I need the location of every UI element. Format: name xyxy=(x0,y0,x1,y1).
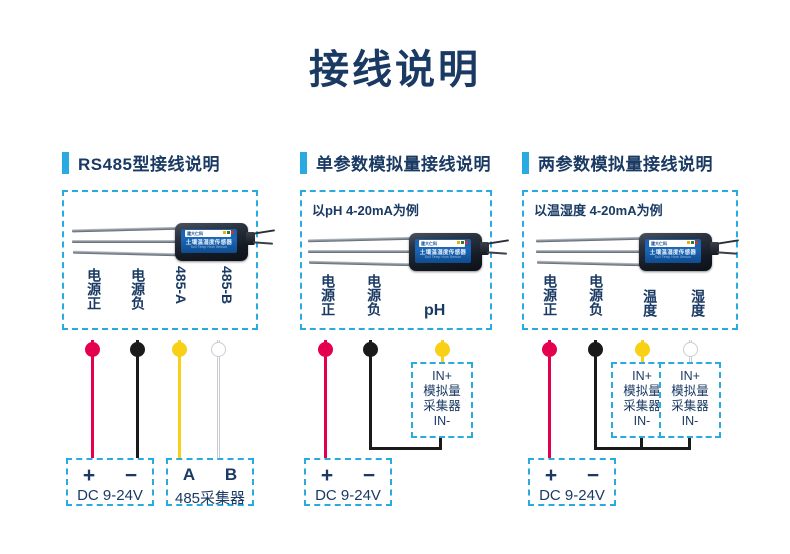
collector-line-2: 采集器 xyxy=(661,399,719,414)
ground-link-vertical-2 xyxy=(688,437,691,449)
wire-power-positive xyxy=(324,340,327,464)
wire-485b xyxy=(217,340,220,464)
soil-sensor-device-rs485: 建大仁科 土壤温湿度传感器 Soil Temp Hum Sensor xyxy=(70,220,254,270)
analog-collector-box-1[interactable]: IN+ 模拟量 采集器 IN- xyxy=(411,362,473,438)
wire-dot-power-positive xyxy=(318,342,333,357)
output-cable xyxy=(253,229,275,234)
label-dots-icon xyxy=(687,241,698,244)
section-header-single-analog: 单参数模拟量接线说明 xyxy=(300,150,491,175)
terminal-box-485-collector[interactable]: A B 485采集器 xyxy=(166,458,254,506)
accent-bar-icon xyxy=(522,152,529,174)
terminal-symbol-positive: + xyxy=(83,465,95,486)
output-cable xyxy=(717,251,737,254)
terminal-symbol-a: A xyxy=(183,466,195,483)
terminal-label-485a: 485-A xyxy=(173,266,188,304)
terminal-label-power-negative: 电源负 xyxy=(366,274,381,316)
collector-in-plus-label: IN+ xyxy=(413,369,471,384)
collector-in-minus-label: IN- xyxy=(413,414,471,429)
terminal-symbol-negative: − xyxy=(125,465,137,486)
collector-line-2: 采集器 xyxy=(413,399,471,414)
probe-prong-icon xyxy=(309,261,417,267)
wire-power-positive xyxy=(91,340,94,464)
device-model-sub: Soil Temp Hum Sensor xyxy=(415,255,471,259)
sensor-label: 建大仁科 土壤温湿度传感器 Soil Temp Hum Sensor xyxy=(415,239,471,263)
ground-link-vertical-1 xyxy=(640,437,643,449)
probe-prong-icon xyxy=(72,240,184,243)
terminal-symbol-negative: − xyxy=(587,465,599,486)
sensor-housing: 建大仁科 土壤温湿度传感器 Soil Temp Hum Sensor xyxy=(409,233,482,271)
probe-prong-icon xyxy=(72,227,182,233)
wire-dot-humidity-signal xyxy=(683,342,698,357)
section-title-rs485: RS485型接线说明 xyxy=(78,150,220,175)
wire-dot-485a xyxy=(172,342,187,357)
accent-bar-icon xyxy=(300,152,307,174)
wire-power-negative xyxy=(136,340,139,464)
output-cable xyxy=(717,239,739,244)
probe-prong-icon xyxy=(536,237,646,243)
collector-line-1: 模拟量 xyxy=(661,384,719,399)
wire-dot-power-positive xyxy=(542,342,557,357)
section-title-single-analog: 单参数模拟量接线说明 xyxy=(316,150,491,175)
terminal-box-dc-supply-single[interactable]: + − DC 9-24V xyxy=(304,458,392,506)
output-cable xyxy=(487,251,507,254)
terminal-label-humidity: 湿度 xyxy=(690,289,705,317)
brand-text: 建大仁科 xyxy=(421,241,437,247)
soil-sensor-device-single: 建大仁科 土壤温湿度传感器 Soil Temp Hum Sensor xyxy=(306,230,490,280)
terminal-label-power-negative: 电源负 xyxy=(588,274,603,316)
wire-dot-power-negative xyxy=(130,342,145,357)
analog-collector-box-2[interactable]: IN+ 模拟量 采集器 IN- xyxy=(659,362,721,438)
device-panel-rs485: 建大仁科 土壤温湿度传感器 Soil Temp Hum Sensor 电源正 电… xyxy=(62,190,258,330)
terminal-symbol-positive: + xyxy=(545,465,557,486)
terminal-label-power-negative: 电源负 xyxy=(130,268,145,310)
brand-text: 建大仁科 xyxy=(187,231,203,237)
label-dots-icon xyxy=(223,231,234,234)
sensor-label: 建大仁科 土壤温湿度传感器 Soil Temp Hum Sensor xyxy=(645,239,701,263)
probe-prong-icon xyxy=(308,250,418,253)
wire-dot-power-negative xyxy=(363,342,378,357)
terminal-box-caption-dc: DC 9-24V xyxy=(306,487,390,504)
collector-in-plus-label: IN+ xyxy=(661,369,719,384)
terminal-symbol-negative: − xyxy=(363,465,375,486)
terminal-box-dc-supply-rs485[interactable]: + − DC 9-24V xyxy=(66,458,154,506)
collector-line-1: 模拟量 xyxy=(413,384,471,399)
terminal-label-power-positive: 电源正 xyxy=(86,268,101,310)
sensor-label: 建大仁科 土壤温湿度传感器 Soil Temp Hum Sensor xyxy=(181,229,237,253)
panel-caption-single-analog: 以pH 4-20mA为例 xyxy=(312,200,419,219)
panel-caption-dual-analog: 以温湿度 4-20mA为例 xyxy=(534,200,663,219)
output-cable xyxy=(253,241,273,244)
terminal-symbol-b: B xyxy=(225,466,237,483)
collector-in-minus-label: IN- xyxy=(661,414,719,429)
terminal-label-temperature: 温度 xyxy=(642,289,657,317)
device-model-sub: Soil Temp Hum Sensor xyxy=(181,245,237,249)
terminal-label-ph: pH xyxy=(424,302,445,319)
section-title-dual-analog: 两参数模拟量接线说明 xyxy=(538,150,713,175)
terminal-box-caption-dc: DC 9-24V xyxy=(68,487,152,504)
terminal-symbol-positive: + xyxy=(321,465,333,486)
terminal-box-caption-485: 485采集器 xyxy=(168,487,252,508)
page-title: 接线说明 xyxy=(0,48,790,92)
ground-link-vertical xyxy=(439,437,442,449)
brand-text: 建大仁科 xyxy=(651,241,667,247)
wiring-instructions-page: 接线说明 RS485型接线说明 建大仁科 土壤温湿度传感器 Soil Temp … xyxy=(0,0,790,554)
sensor-housing: 建大仁科 土壤温湿度传感器 Soil Temp Hum Sensor xyxy=(175,223,248,261)
ground-link-horizontal xyxy=(369,447,442,450)
probe-prong-icon xyxy=(536,250,648,253)
terminal-box-caption-dc: DC 9-24V xyxy=(530,487,614,504)
terminal-box-dc-supply-dual[interactable]: + − DC 9-24V xyxy=(528,458,616,506)
wire-dot-power-negative xyxy=(588,342,603,357)
label-dots-icon xyxy=(457,241,468,244)
output-cable xyxy=(487,239,509,244)
wire-dot-temperature-signal xyxy=(635,342,650,357)
terminal-label-power-positive: 电源正 xyxy=(320,274,335,316)
wire-dot-485b xyxy=(211,342,226,357)
device-panel-single-analog: 以pH 4-20mA为例 建大仁科 土壤温湿度传感器 Soil Temp Hum… xyxy=(300,190,492,330)
probe-prong-icon xyxy=(73,251,183,257)
wire-485a xyxy=(178,340,181,464)
terminal-label-485b: 485-B xyxy=(219,266,234,304)
sensor-housing: 建大仁科 土壤温湿度传感器 Soil Temp Hum Sensor xyxy=(639,233,712,271)
section-header-dual-analog: 两参数模拟量接线说明 xyxy=(522,150,713,175)
terminal-label-power-positive: 电源正 xyxy=(542,274,557,316)
accent-bar-icon xyxy=(62,152,69,174)
device-model-sub: Soil Temp Hum Sensor xyxy=(645,255,701,259)
section-header-rs485: RS485型接线说明 xyxy=(62,150,220,175)
device-panel-dual-analog: 以温湿度 4-20mA为例 建大仁科 土壤温湿度传感器 Soil Temp Hu… xyxy=(522,190,738,330)
wire-power-positive xyxy=(548,340,551,464)
probe-prong-icon xyxy=(308,237,416,243)
wire-dot-analog-signal xyxy=(435,342,450,357)
probe-prong-icon xyxy=(537,261,647,267)
soil-sensor-device-dual: 建大仁科 土壤温湿度传感器 Soil Temp Hum Sensor xyxy=(534,230,724,280)
wire-dot-power-positive xyxy=(85,342,100,357)
